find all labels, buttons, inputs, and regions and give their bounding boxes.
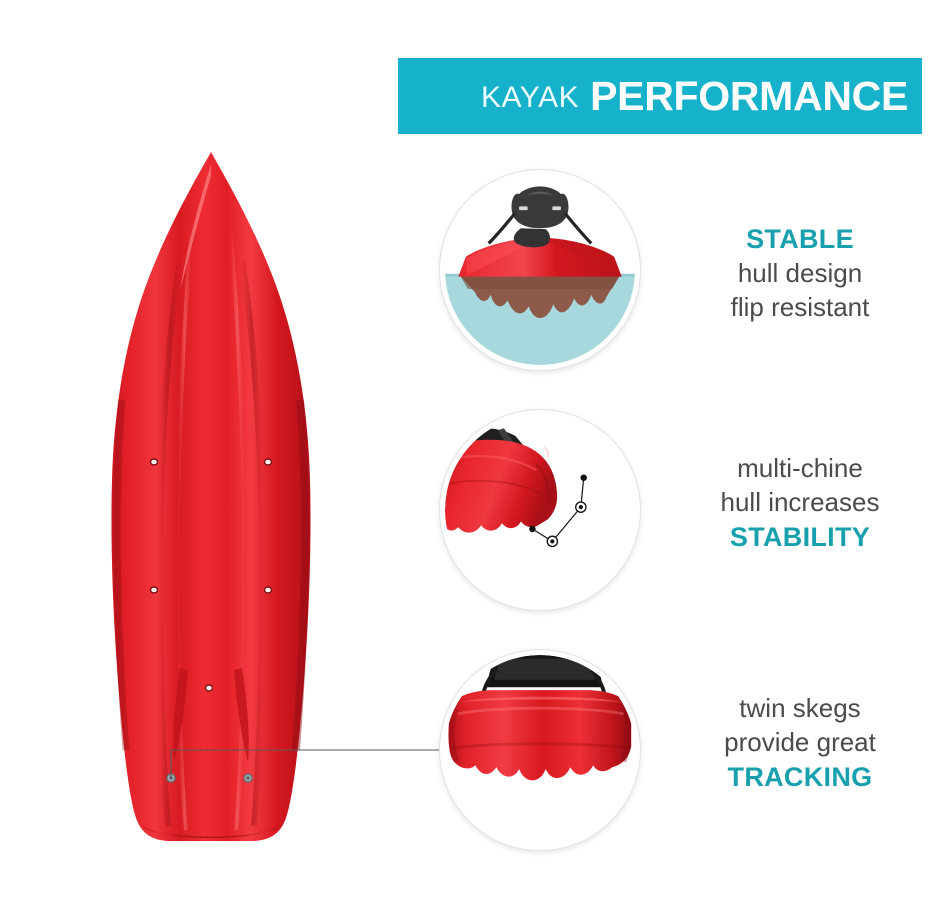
feature-line: provide great: [655, 726, 945, 760]
feature-line: multi-chine: [655, 452, 945, 486]
scupper-hole: [151, 587, 158, 593]
feature-heading: STABILITY: [655, 520, 945, 555]
feature-line: flip resistant: [655, 291, 945, 325]
kayak-product-image: [108, 150, 314, 844]
callout-circle-tracking: [440, 650, 640, 850]
callout-circle-stable: [440, 170, 640, 370]
feature-text-tracking: twin skegs provide great TRACKING: [655, 692, 945, 795]
twin-skegs-rear-view-icon: [445, 655, 635, 845]
feature-heading: STABLE: [655, 222, 945, 257]
feature-text-stability: multi-chine hull increases STABILITY: [655, 452, 945, 555]
scupper-hole: [206, 685, 213, 691]
seat-cushion: [514, 228, 550, 247]
multi-chine-hull-angle-icon: [445, 415, 635, 605]
scupper-hole: [151, 459, 158, 465]
feature-line: hull increases: [655, 486, 945, 520]
kayak-hull-illustration: [108, 150, 314, 844]
infographic-page: KAYAK PERFORMANCE: [0, 0, 950, 903]
callout-circle-stability: [440, 410, 640, 610]
banner-prefix: KAYAK: [481, 83, 579, 113]
feature-line: hull design: [655, 257, 945, 291]
kayak-cross-section-in-water-icon: [445, 175, 635, 365]
scupper-hole: [265, 459, 272, 465]
scupper-hole: [265, 587, 272, 593]
banner-title: PERFORMANCE: [590, 76, 908, 117]
header-banner: KAYAK PERFORMANCE: [398, 58, 922, 134]
feature-heading: TRACKING: [655, 760, 945, 795]
feature-line: twin skegs: [655, 692, 945, 726]
feature-text-stable: STABLE hull design flip resistant: [655, 222, 945, 325]
